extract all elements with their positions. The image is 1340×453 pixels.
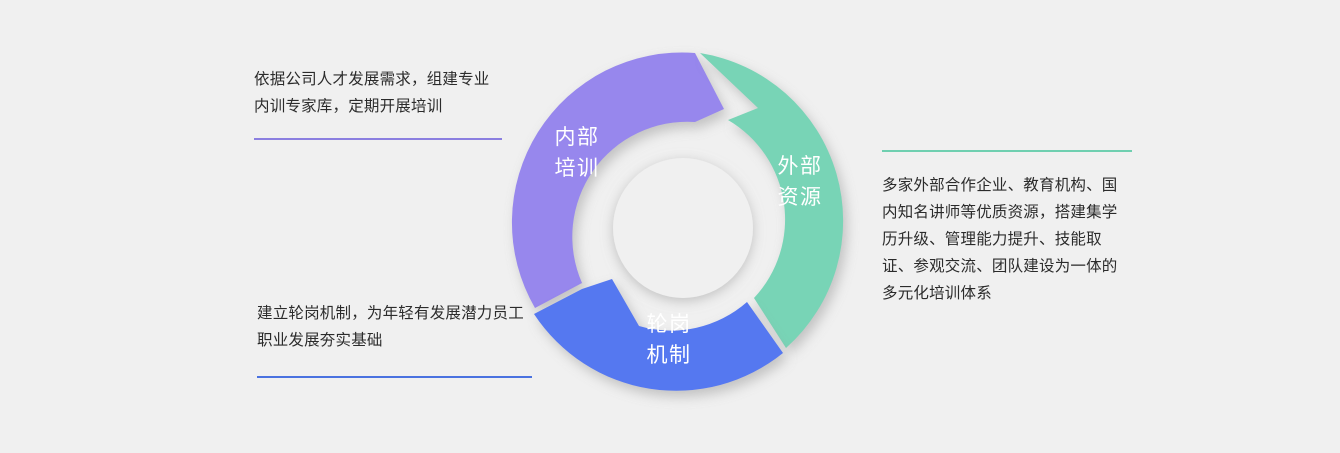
- callout-internal-training-text: 依据公司人才发展需求，组建专业内训专家库，定期开展培训: [254, 66, 502, 120]
- segment-rotation-mechanism[interactable]: [534, 279, 783, 391]
- callout-internal-training: 依据公司人才发展需求，组建专业内训专家库，定期开展培训: [254, 66, 502, 140]
- callout-external-resources: 多家外部合作企业、教育机构、国内知名讲师等优质资源，搭建集学历升级、管理能力提升…: [882, 150, 1132, 307]
- callout-rotation-mechanism: 建立轮岗机制，为年轻有发展潜力员工职业发展夯实基础: [257, 300, 532, 378]
- callout-external-resources-text: 多家外部合作企业、教育机构、国内知名讲师等优质资源，搭建集学历升级、管理能力提升…: [882, 172, 1132, 307]
- cycle-diagram: [498, 35, 874, 421]
- diagram-canvas: 内部 培训 外部 资源 轮岗 机制 依据公司人才发展需求，组建专业内训专家库，定…: [0, 0, 1340, 453]
- callout-internal-training-rule: [254, 138, 502, 140]
- callout-external-resources-rule: [882, 150, 1132, 152]
- callout-rotation-mechanism-rule: [257, 376, 532, 378]
- donut-center-hole: [613, 158, 753, 298]
- callout-rotation-mechanism-text: 建立轮岗机制，为年轻有发展潜力员工职业发展夯实基础: [257, 300, 532, 354]
